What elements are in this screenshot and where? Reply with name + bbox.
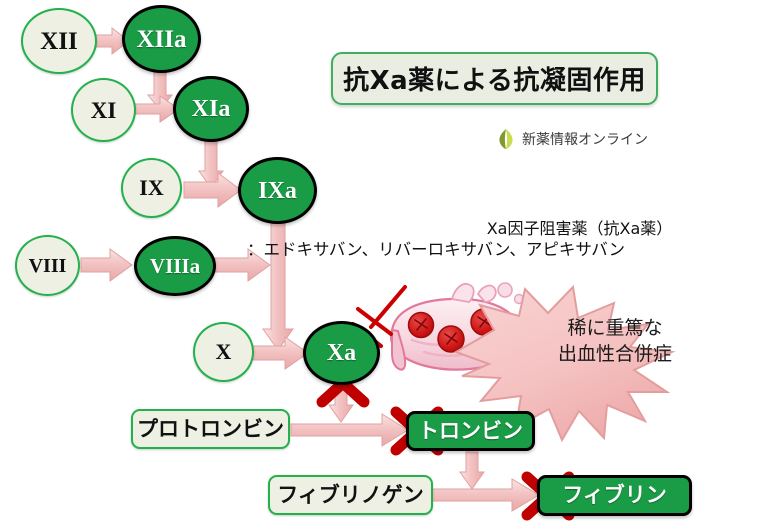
drug-annotation-line-1: Xa因子阻害薬（抗Xa薬） bbox=[241, 219, 768, 239]
arrow-fibrinogen-to-fibrin bbox=[432, 479, 539, 511]
node-factor-10a[interactable]: Xa bbox=[303, 321, 380, 385]
arrow-prothrombin-to-thrombin bbox=[291, 414, 408, 446]
node-factor-12a[interactable]: XIIa bbox=[122, 5, 201, 73]
diagram-title-box: 抗Xa薬による抗凝固作用 bbox=[331, 52, 658, 105]
node-label: IX bbox=[139, 177, 163, 199]
node-label: X bbox=[216, 341, 232, 363]
site-logo: 新薬情報オンライン bbox=[497, 128, 648, 150]
node-label: トロンビン bbox=[418, 421, 523, 442]
bleeding-complication-label: 稀に重篤な 出血性合併症 bbox=[527, 316, 703, 367]
burst-line-2: 出血性合併症 bbox=[527, 342, 703, 368]
node-factor-9[interactable]: IX bbox=[121, 158, 182, 218]
node-label: XIa bbox=[192, 97, 231, 121]
node-factor-11a[interactable]: XIa bbox=[173, 76, 249, 142]
node-label: フィブリン bbox=[562, 485, 667, 506]
node-fibrin[interactable]: フィブリン bbox=[537, 475, 692, 516]
node-label: VIII bbox=[29, 256, 67, 276]
node-label: プロトロンビン bbox=[137, 419, 284, 440]
node-label: Xa bbox=[327, 341, 356, 365]
page-title: 抗Xa薬による抗凝固作用 bbox=[343, 60, 646, 97]
node-factor-8a[interactable]: VIIIa bbox=[134, 236, 216, 296]
node-label: XIIa bbox=[136, 27, 186, 52]
node-factor-10[interactable]: X bbox=[193, 322, 254, 382]
node-label: XII bbox=[40, 29, 78, 54]
node-label: IXa bbox=[258, 179, 297, 203]
arrow-thrombin-to-fibrin bbox=[460, 452, 484, 489]
logo-text: 新薬情報オンライン bbox=[522, 129, 648, 149]
drug-annotation: Xa因子阻害薬（抗Xa薬） ：エドキサバン、リバーロキサバン、アピキサバン bbox=[241, 219, 768, 261]
node-factor-9a[interactable]: IXa bbox=[238, 157, 317, 224]
diagram-canvas: 抗Xa薬による抗凝固作用 新薬情報オンライン Xa因子阻害薬（抗Xa薬） ：エド… bbox=[0, 0, 768, 529]
drug-annotation-line-2: ：エドキサバン、リバーロキサバン、アピキサバン bbox=[241, 239, 768, 260]
burst-line-1: 稀に重篤な bbox=[527, 316, 703, 342]
node-factor-12[interactable]: XII bbox=[21, 8, 97, 74]
arrow-f8-to-f8a bbox=[81, 249, 132, 281]
node-fibrinogen[interactable]: フィブリノゲン bbox=[268, 475, 433, 515]
node-prothrombin[interactable]: プロトロンビン bbox=[131, 409, 290, 449]
node-label: VIIIa bbox=[150, 256, 200, 277]
node-thrombin[interactable]: トロンビン bbox=[406, 411, 535, 451]
node-factor-8[interactable]: VIII bbox=[15, 235, 80, 296]
node-label: フィブリノゲン bbox=[277, 485, 424, 506]
node-factor-11[interactable]: XI bbox=[71, 78, 136, 142]
node-label: XI bbox=[91, 99, 117, 122]
leaf-icon bbox=[497, 128, 515, 150]
